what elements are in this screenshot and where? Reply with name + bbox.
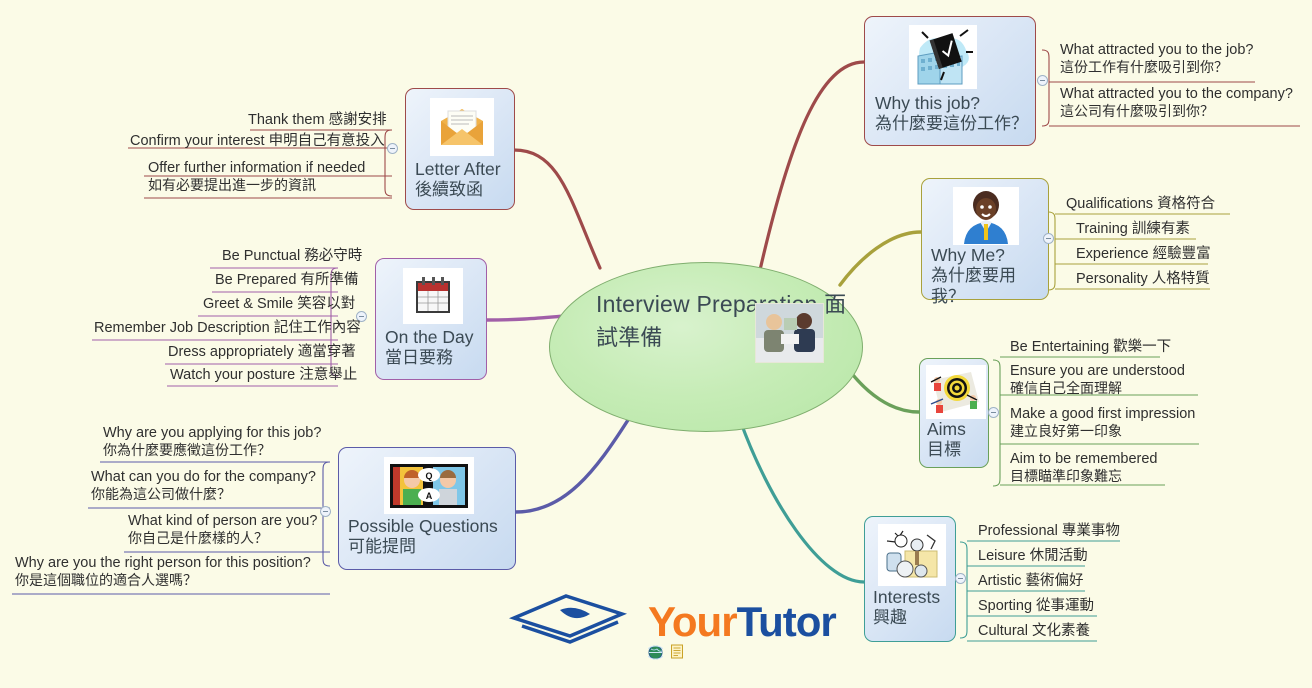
aims-cn: 目標 <box>927 440 988 461</box>
on-the-day-en: On the Day <box>385 327 486 348</box>
branch-node-interests[interactable]: Interests 興趣 <box>864 516 956 642</box>
branch-node-why-this-job[interactable]: Why this job? 為什麼要這份工作？ <box>864 16 1036 146</box>
person-thinking-icon <box>953 187 1019 245</box>
leaf-why-me-1[interactable]: Training 訓練有素 <box>1076 220 1190 238</box>
leaf-possible-questions-0[interactable]: Why are you applying for this job? 你為什麼要… <box>103 424 321 460</box>
leaf-aims-0[interactable]: Be Entertaining 歡樂一下 <box>1010 338 1171 356</box>
leaf-interests-1[interactable]: Leisure 休閒活動 <box>978 547 1088 565</box>
why-this-job-en: Why this job? <box>875 93 1035 114</box>
interests-cn: 興趣 <box>873 608 955 629</box>
logo-word-your: Your <box>648 598 737 645</box>
svg-text:Q: Q <box>425 471 432 481</box>
leaf-letter-after-2[interactable]: Offer further information if needed 如有必要… <box>148 159 365 195</box>
branch-node-why-me-label: Why Me? 為什麼要用我？ <box>931 245 1048 308</box>
mindmap-canvas: Interview Preparation 面試準備 <box>0 0 1312 688</box>
letter-after-cn: 後續致函 <box>415 180 514 201</box>
leaf-on-the-day-2[interactable]: Greet & Smile 笑容以對 <box>203 295 355 313</box>
why-this-job-cn: 為什麼要這份工作？ <box>875 114 1035 135</box>
globe-icon[interactable] <box>648 645 663 660</box>
leaf-on-the-day-1[interactable]: Be Prepared 有所準備 <box>215 271 358 289</box>
note-icon[interactable] <box>670 644 685 660</box>
collapse-toggle-letter-after[interactable] <box>387 143 398 154</box>
interview-handshake-photo <box>755 303 824 363</box>
leaf-letter-after-0[interactable]: Thank them 感謝安排 <box>248 111 387 129</box>
leaf-interests-2[interactable]: Artistic 藝術偏好 <box>978 572 1084 590</box>
possible-questions-cn: 可能提問 <box>348 537 515 558</box>
leaf-why-me-2[interactable]: Experience 經驗豐富 <box>1076 245 1211 263</box>
leaf-possible-questions-3[interactable]: Why are you the right person for this po… <box>15 554 311 590</box>
yourtutor-logo[interactable]: YourTutor <box>500 592 820 652</box>
hobbies-collage-icon <box>878 524 946 586</box>
leaf-letter-after-1[interactable]: Confirm your interest 申明自己有意投入 <box>130 132 385 150</box>
leaf-why-this-job-1[interactable]: What attracted you to the company? 這公司有什… <box>1060 85 1293 121</box>
dartboard-target-icon <box>926 365 986 419</box>
branch-node-aims[interactable]: Aims 目標 <box>919 358 989 468</box>
logo-mini-icons <box>648 644 685 660</box>
collapse-toggle-why-this-job[interactable] <box>1037 75 1048 86</box>
collapse-toggle-why-me[interactable] <box>1043 233 1054 244</box>
leaf-aims-3[interactable]: Aim to be remembered 目標瞄準印象難忘 <box>1010 450 1157 486</box>
branch-node-why-me[interactable]: Why Me? 為什麼要用我？ <box>921 178 1049 300</box>
branch-node-aims-label: Aims 目標 <box>927 419 988 461</box>
logo-wordmark: YourTutor <box>648 598 836 646</box>
leaf-on-the-day-0[interactable]: Be Punctual 務必守時 <box>222 247 362 265</box>
central-node[interactable]: Interview Preparation 面試準備 <box>549 262 863 432</box>
branch-node-possible-questions-label: Possible Questions 可能提問 <box>348 516 515 558</box>
leaf-why-this-job-0[interactable]: What attracted you to the job? 這份工作有什麼吸引… <box>1060 41 1253 77</box>
branch-node-interests-label: Interests 興趣 <box>873 587 955 629</box>
possible-questions-en: Possible Questions <box>348 516 515 537</box>
interests-en: Interests <box>873 587 955 608</box>
leaf-why-me-3[interactable]: Personality 人格特質 <box>1076 270 1210 288</box>
central-title-line1: Interview <box>596 291 690 317</box>
why-me-en: Why Me? <box>931 245 1048 266</box>
aims-en: Aims <box>927 419 988 440</box>
envelope-letter-icon <box>430 98 494 156</box>
branch-node-letter-after-label: Letter After 後續致函 <box>415 159 514 201</box>
branch-node-on-the-day[interactable]: On the Day 當日要務 <box>375 258 487 380</box>
branch-node-possible-questions[interactable]: Q A Possible Questions 可能提問 <box>338 447 516 570</box>
collapse-toggle-possible-questions[interactable] <box>320 506 331 517</box>
branch-node-on-the-day-label: On the Day 當日要務 <box>385 327 486 369</box>
leaf-why-me-0[interactable]: Qualifications 資格符合 <box>1066 195 1215 213</box>
leaf-aims-1[interactable]: Ensure you are understood 確信自己全面理解 <box>1010 362 1185 398</box>
branch-node-letter-after[interactable]: Letter After 後續致函 <box>405 88 515 210</box>
svg-text:A: A <box>426 491 433 501</box>
leaf-possible-questions-2[interactable]: What kind of person are you? 你自己是什麼樣的人？ <box>128 512 317 548</box>
letter-after-en: Letter After <box>415 159 514 180</box>
leaf-on-the-day-3[interactable]: Remember Job Description 記住工作內容 <box>94 319 361 337</box>
collapse-toggle-interests[interactable] <box>955 573 966 584</box>
leaf-possible-questions-1[interactable]: What can you do for the company? 你能為這公司做… <box>91 468 316 504</box>
building-notebook-icon <box>909 25 977 89</box>
q-and-a-people-icon: Q A <box>384 457 474 514</box>
leaf-interests-0[interactable]: Professional 專業事物 <box>978 522 1120 540</box>
graduation-cap-icon <box>500 592 640 650</box>
leaf-aims-2[interactable]: Make a good first impression 建立良好第一印象 <box>1010 405 1195 441</box>
leaf-on-the-day-5[interactable]: Watch your posture 注意舉止 <box>170 366 357 384</box>
on-the-day-cn: 當日要務 <box>385 348 486 369</box>
logo-word-tutor: Tutor <box>737 598 836 645</box>
leaf-on-the-day-4[interactable]: Dress appropriately 適當穿著 <box>168 343 356 361</box>
leaf-interests-3[interactable]: Sporting 從事運動 <box>978 597 1094 615</box>
collapse-toggle-aims[interactable] <box>988 407 999 418</box>
calendar-icon <box>403 268 463 324</box>
leaf-interests-4[interactable]: Cultural 文化素養 <box>978 622 1090 640</box>
why-me-cn: 為什麼要用我？ <box>931 266 1048 307</box>
branch-node-why-this-job-label: Why this job? 為什麼要這份工作？ <box>875 93 1035 135</box>
